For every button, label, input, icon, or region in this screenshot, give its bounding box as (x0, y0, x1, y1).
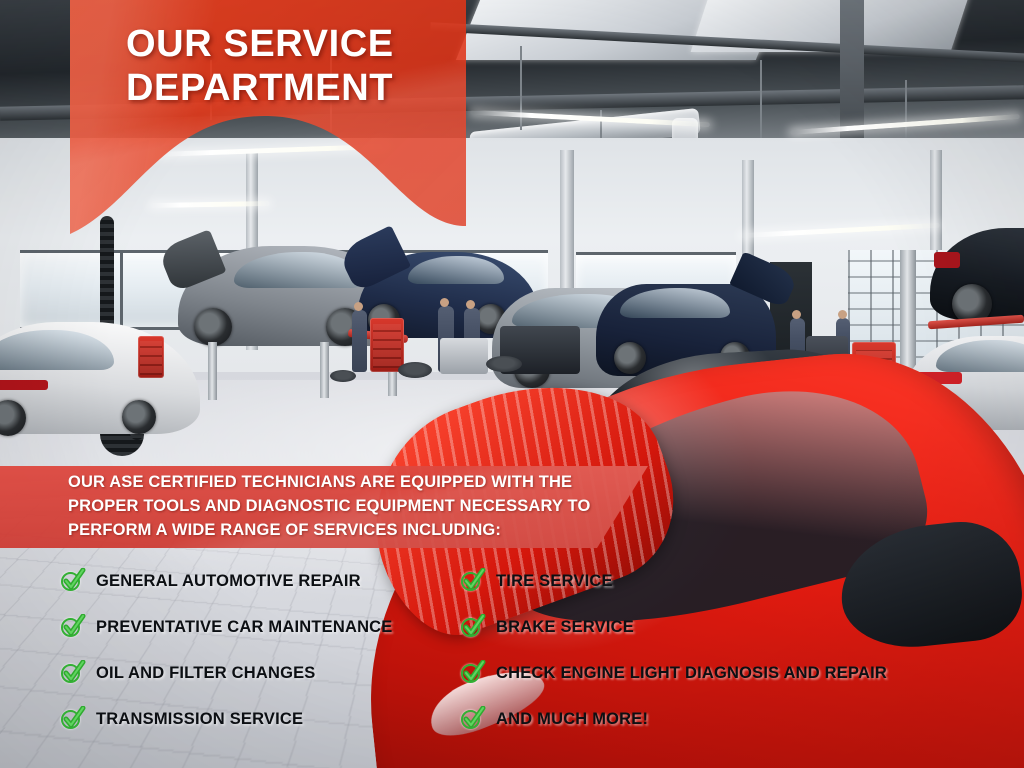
vehicle-wheel (614, 342, 646, 374)
vehicle-taillight (0, 380, 48, 390)
green-check-circle-icon (460, 569, 484, 593)
vehicle-black-suv-raised (930, 228, 1024, 320)
page-title-line-2: DEPARTMENT (126, 66, 466, 110)
list-item: BRAKE SERVICE (460, 604, 1010, 650)
list-item-label: GENERAL AUTOMOTIVE REPAIR (96, 572, 361, 591)
list-item-label: CHECK ENGINE LIGHT DIAGNOSIS AND REPAIR (496, 664, 887, 683)
tool-cabinet-red-3 (138, 336, 164, 378)
technician-head (466, 300, 475, 309)
green-check-circle-icon (60, 661, 84, 685)
equipment-cart (440, 338, 488, 374)
lift-post-right (320, 342, 329, 398)
drawer-lines (140, 341, 162, 375)
page-title-line-1: OUR SERVICE (126, 22, 466, 66)
technician-1 (352, 310, 367, 372)
vehicle-silver-porsche-left (0, 322, 200, 434)
green-check-circle-icon (60, 707, 84, 731)
services-checklist: GENERAL AUTOMOTIVE REPAIR PREVENTATIVE C… (60, 558, 1010, 738)
vehicle-taillight (934, 252, 960, 268)
list-item: PREVENTATIVE CAR MAINTENANCE (60, 604, 480, 650)
page-title: OUR SERVICE DEPARTMENT (126, 22, 466, 110)
list-item-label: PREVENTATIVE CAR MAINTENANCE (96, 618, 393, 637)
list-item-label: TRANSMISSION SERVICE (96, 710, 303, 729)
list-item-label: OIL AND FILTER CHANGES (96, 664, 316, 683)
green-check-circle-icon (460, 707, 484, 731)
tyre-on-floor-3 (330, 370, 356, 382)
vehicle-wheel (194, 308, 232, 346)
list-item: OIL AND FILTER CHANGES (60, 650, 480, 696)
services-column-right: TIRE SERVICE BRAKE SERVICE (460, 558, 1010, 742)
technician-head (440, 298, 449, 307)
green-check-circle-icon (460, 615, 484, 639)
list-item-label: TIRE SERVICE (496, 572, 613, 591)
list-item: GENERAL AUTOMOTIVE REPAIR (60, 558, 480, 604)
intro-paragraph: OUR ASE CERTIFIED TECHNICIANS ARE EQUIPP… (68, 471, 608, 542)
technician-head (838, 310, 847, 319)
green-check-circle-icon (60, 569, 84, 593)
technician-head (792, 310, 801, 319)
services-column-left: GENERAL AUTOMOTIVE REPAIR PREVENTATIVE C… (60, 558, 480, 742)
tyre-on-floor-2 (486, 356, 522, 372)
list-item: TRANSMISSION SERVICE (60, 696, 480, 742)
green-check-circle-icon (460, 661, 484, 685)
green-check-circle-icon (60, 615, 84, 639)
tyre-on-floor-1 (398, 362, 432, 378)
list-item: TIRE SERVICE (460, 558, 1010, 604)
vehicle-wheel (122, 400, 156, 434)
list-item-label: BRAKE SERVICE (496, 618, 634, 637)
window-mullion-1 (120, 250, 123, 330)
service-department-poster: E3 23 UAJ OUR SERVICE DEPARTMENT OUR ASE… (0, 0, 1024, 768)
technician-head (354, 302, 363, 311)
tool-cabinet-red-1 (370, 318, 404, 372)
list-item: CHECK ENGINE LIGHT DIAGNOSIS AND REPAIR (460, 650, 1010, 696)
list-item-label: AND MUCH MORE! (496, 710, 648, 729)
drawer-lines (373, 324, 402, 367)
list-item: AND MUCH MORE! (460, 696, 1010, 742)
lift-post-left (208, 342, 217, 400)
